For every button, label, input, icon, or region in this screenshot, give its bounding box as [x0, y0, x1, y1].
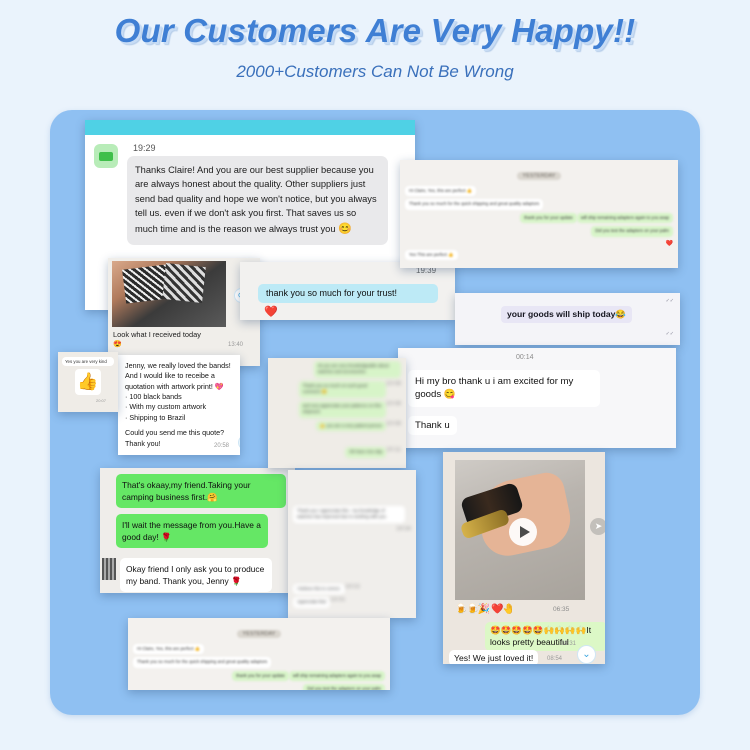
quote-bullet-1: · 100 black bands [125, 392, 233, 402]
bottom-message-3: thank you for your update [232, 671, 289, 681]
mid-message-3: and very appreciate your patience on thi… [299, 401, 386, 418]
page-title: Our Customers Are Very Happy!! [0, 0, 750, 50]
watch-white-message: Yes! We just loved it! [449, 650, 538, 664]
quote-message: Jenny, we really loved the bands! And I … [118, 355, 240, 455]
adapters-heart-icon[interactable]: ❤️ [666, 240, 673, 247]
bottom-message-1: Hi Claire, Yes, this are perfect 👍 [133, 644, 204, 654]
testimonial-card-adapters[interactable]: YESTERDAY Hi Claire, Yes, this are perfe… [400, 160, 678, 268]
mid2-ts-3: 19:05 [330, 597, 345, 607]
mid-ts-4: 20:11 [386, 447, 401, 457]
goods-ship-message: your goods will ship today😂 [501, 306, 632, 323]
mid2-message-3: Appreciate that [293, 597, 330, 607]
mid-message-1: ok you are very knowledgeable about watc… [314, 361, 401, 378]
testimonial-card-thumbs-up[interactable]: Yes you are very kind 👍 20:07 [58, 352, 118, 412]
watch-green-timestamp: 08:31 [561, 641, 576, 647]
kind-message: Yes you are very kind [62, 357, 114, 366]
testimonial-card-knowledge[interactable]: ok you are very knowledgeable about watc… [268, 358, 406, 468]
trust-message: thank you so much for your trust! [266, 288, 397, 298]
testimonial-card-adapters-bottom[interactable]: YESTERDAY Hi Claire, Yes, this are perfe… [128, 618, 390, 690]
green-message-2: I'll wait the message from you.Have a go… [116, 514, 268, 548]
bottom-message-2: Thank you so much for the quick shipping… [133, 657, 271, 667]
read-receipt-icon-1: ✓✓ [666, 298, 674, 304]
day-chip: YESTERDAY [517, 172, 562, 180]
page-subtitle: 2000+Customers Can Not Be Wrong [0, 50, 750, 82]
mid2-ts-1: 18:58 [396, 526, 411, 532]
mid2-message-2: I believe this is correct. [293, 584, 345, 594]
mid-message-2: Thank you so much on such good comment 😊 [299, 381, 386, 398]
scroll-down-icon-watch[interactable]: ⌄ [577, 645, 596, 664]
testimonial-card-knowledge-2[interactable]: Thank you I appreciate this - my knowled… [288, 470, 416, 618]
page-header: Our Customers Are Very Happy!! 2000+Cust… [0, 0, 750, 82]
quote-bullet-2: · With my custom artwork [125, 402, 233, 412]
mid-ts-3: 20:08 [386, 421, 401, 431]
testimonial-card-goods-ship[interactable]: ✓✓ your goods will ship today😂 ✓✓ [455, 293, 680, 345]
mid2-ts-2: 19:03 [345, 584, 360, 594]
adapters-message-6: Yes This are perfect 👍 [405, 250, 458, 260]
bottom-message-4: will ship remaining adapters again to yo… [289, 671, 385, 681]
quote-line-4: Could you send me this quote? [125, 428, 233, 438]
video-timestamp: 06:35 [553, 606, 569, 613]
main-chat-message: Thanks Claire! And you are our best supp… [127, 156, 388, 245]
read-receipt-icon-2: ✓✓ [666, 331, 674, 337]
bottom-message-5: Did you test the adapters on your palm [303, 684, 385, 690]
excited-time-label: 00:14 [516, 354, 534, 361]
quote-line-3: quotation with artwork print! 💖 [125, 382, 233, 392]
testimonial-card-watch-video[interactable]: ➤ 🍺🍺🎉 ❤️🤚 06:35 🤩🤩🤩🤩🤩🙌🙌🙌🙌It looks pretty… [443, 452, 605, 664]
thumbs-up-sticker: 👍 [75, 369, 101, 395]
video-reactions[interactable]: 🍺🍺🎉 ❤️🤚 [455, 604, 514, 615]
adapters-message-3: thank you for your update [520, 213, 577, 223]
quote-bullet-3: · Shipping to Brazil [125, 413, 233, 423]
received-bands-photo[interactable] [112, 261, 226, 327]
quote-line-1: Jenny, we really loved the bands! [125, 361, 233, 371]
adapters-message-5: Did you test the adapters on your palm [591, 226, 673, 236]
forward-icon[interactable]: ➤ [590, 518, 605, 535]
excited-message-2: Thank u [408, 416, 457, 435]
mid-ts-1: 20:08 [386, 381, 401, 398]
quote-line-2: And I would like to receibe a [125, 371, 233, 381]
testimonial-card-quote-request[interactable]: Jenny, we really loved the bands! And I … [118, 355, 240, 455]
mid-ts-2: 20:08 [386, 401, 401, 418]
photo-timestamp: 13:40 [228, 342, 243, 348]
photo-caption: Look what I received today [113, 330, 201, 339]
testimonial-card-green-bubbles[interactable]: That's okaay,my friend.Taking your campi… [100, 468, 295, 593]
green-message-1: That's okaay,my friend.Taking your campi… [116, 474, 286, 508]
day-chip-bottom: YESTERDAY [237, 630, 282, 638]
photo-reaction[interactable]: 😍 [113, 340, 122, 348]
testimonial-card-trust[interactable]: 19:39 thank you so much for your trust! … [240, 262, 455, 320]
mid2-message-1: Thank you I appreciate this - my knowled… [293, 506, 405, 523]
play-icon[interactable] [509, 518, 537, 546]
chat-header-bar [85, 120, 415, 135]
smile-emoji: 😊 [338, 223, 352, 235]
excited-message-1: Hi my bro thank u i am excited for my go… [408, 370, 600, 407]
thumbs-timestamp: 20:07 [96, 398, 106, 403]
watch-video-thumbnail[interactable] [455, 460, 585, 600]
green-message-3: Okay friend I only ask you to produce my… [120, 558, 272, 592]
mid-message-5: Ok have nice day [345, 447, 386, 457]
adapters-message-4: will ship remaining adapters again to yo… [577, 213, 673, 223]
avatar [94, 144, 118, 168]
quote-timestamp: 20:58 [214, 443, 229, 449]
adapters-message-2: Thank you so much for the quick shipping… [405, 199, 543, 209]
contact-avatar [102, 558, 116, 580]
mid-message-4: 👍 you are a very patient person [316, 421, 386, 431]
testimonial-card-excited[interactable]: 00:14 Hi my bro thank u i am excited for… [398, 348, 676, 448]
heart-reaction-icon[interactable]: ❤️ [264, 305, 278, 318]
watch-white-timestamp: 08:54 [547, 656, 562, 662]
testimonial-card-photo[interactable]: ⟳ Look what I received today 😍 13:40 [108, 258, 260, 366]
adapters-message-1: Hi Claire, Yes, this are perfect 👍 [405, 186, 476, 196]
message-timestamp: 19:29 [133, 143, 156, 153]
